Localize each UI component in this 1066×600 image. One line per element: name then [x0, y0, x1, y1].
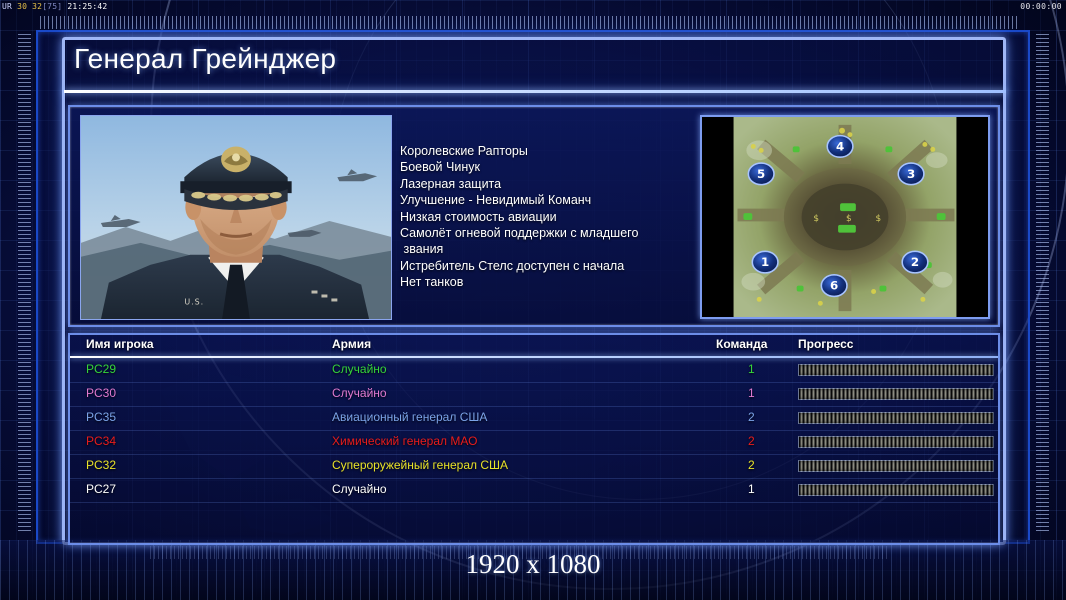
- ruler-right: [1036, 34, 1049, 534]
- table-header-separator: [70, 356, 998, 358]
- status-value-b: 32: [32, 2, 42, 11]
- table-row[interactable]: PC32Супероружейный генерал США2: [70, 455, 998, 479]
- player-team: 2: [748, 410, 755, 424]
- ability-item: Лазерная защита: [400, 176, 750, 192]
- column-header-team: Команда: [716, 337, 767, 351]
- title-separator: [64, 90, 1006, 93]
- table-row[interactable]: PC27Случайно1: [70, 479, 998, 503]
- ability-item: Низкая стоимость авиации: [400, 209, 750, 225]
- status-prefix: UR: [2, 2, 12, 11]
- table-row[interactable]: PC30Случайно1: [70, 383, 998, 407]
- player-army: Случайно: [332, 362, 387, 376]
- ability-list: Королевские Рапторы Боевой Чинук Лазерна…: [400, 143, 750, 291]
- player-team: 1: [748, 386, 755, 400]
- table-row[interactable]: PC35Авиационный генерал США2: [70, 407, 998, 431]
- ability-item: Улучшение - Невидимый Команч: [400, 192, 750, 208]
- player-army: Случайно: [332, 482, 387, 496]
- svg-text:3: 3: [907, 167, 915, 181]
- table-row[interactable]: PC29Случайно1: [70, 359, 998, 383]
- player-name: PC32: [86, 458, 116, 472]
- row-divider: [70, 502, 998, 503]
- ability-item: Королевские Рапторы: [400, 143, 750, 159]
- table-row[interactable]: PC34Химический генерал МАО2: [70, 431, 998, 455]
- svg-text:$: $: [813, 214, 819, 224]
- svg-text:5: 5: [757, 167, 765, 181]
- player-army: Химический генерал МАО: [332, 434, 477, 448]
- ability-item: Истребитель Стелс доступен с начала: [400, 258, 750, 274]
- svg-text:1: 1: [761, 255, 769, 269]
- status-bracket: [75]: [42, 2, 62, 11]
- svg-text:2: 2: [911, 255, 919, 269]
- general-portrait: U.S.: [80, 115, 392, 320]
- player-army: Случайно: [332, 386, 387, 400]
- player-army: Авиационный генерал США: [332, 410, 487, 424]
- page-title: Генерал Грейнджер: [74, 43, 336, 75]
- svg-text:U.S.: U.S.: [184, 297, 204, 306]
- ability-item: Боевой Чинук: [400, 159, 750, 175]
- column-header-army: Армия: [332, 337, 371, 351]
- player-name: PC29: [86, 362, 116, 376]
- player-progress-bar: [798, 484, 994, 496]
- player-progress-bar: [798, 460, 994, 472]
- column-header-progress: Прогресс: [798, 337, 853, 351]
- ruler-left: [18, 34, 31, 534]
- player-progress-bar: [798, 436, 994, 448]
- ruler-top: [40, 16, 1020, 29]
- svg-text:6: 6: [830, 279, 838, 293]
- player-name: PC30: [86, 386, 116, 400]
- status-value-a: 30: [17, 2, 27, 11]
- player-progress-bar: [798, 388, 994, 400]
- player-team: 2: [748, 434, 755, 448]
- game-screen: UR 30 32[75] 21:25:42 00:00:00 Генерал Г…: [0, 0, 1066, 600]
- ability-item: Самолёт огневой поддержки с младшего зва…: [400, 225, 750, 258]
- player-name: PC27: [86, 482, 116, 496]
- player-team: 1: [748, 482, 755, 496]
- player-team: 2: [748, 458, 755, 472]
- title-zone: Генерал Грейнджер: [64, 40, 1004, 92]
- player-team: 1: [748, 362, 755, 376]
- resolution-label: 1920 x 1080: [0, 549, 1066, 580]
- player-name: PC35: [86, 410, 116, 424]
- status-bar: UR 30 32[75] 21:25:42 00:00:00: [0, 0, 1066, 13]
- svg-text:4: 4: [836, 139, 844, 153]
- ability-item: Нет танков: [400, 274, 750, 290]
- column-header-name: Имя игрока: [86, 337, 154, 351]
- svg-text:$: $: [846, 214, 852, 224]
- player-name: PC34: [86, 434, 116, 448]
- table-header-row: Имя игрока Армия Команда Прогресс: [70, 335, 998, 357]
- status-clock: 21:25:42: [67, 2, 107, 11]
- player-list-panel: Имя игрока Армия Команда Прогресс PC29Сл…: [68, 333, 1000, 545]
- player-progress-bar: [798, 412, 994, 424]
- svg-text:$: $: [876, 214, 882, 224]
- player-progress-bar: [798, 364, 994, 376]
- player-army: Супероружейный генерал США: [332, 458, 508, 472]
- general-info-panel: U.S. Королевские Рапторы Боевой Чинук Ла…: [68, 105, 1000, 327]
- status-timer: 00:00:00: [1020, 0, 1062, 13]
- status-bar-left: UR 30 32[75] 21:25:42: [2, 0, 107, 13]
- player-rows: PC29Случайно1PC30Случайно1PC35Авиационны…: [70, 359, 998, 503]
